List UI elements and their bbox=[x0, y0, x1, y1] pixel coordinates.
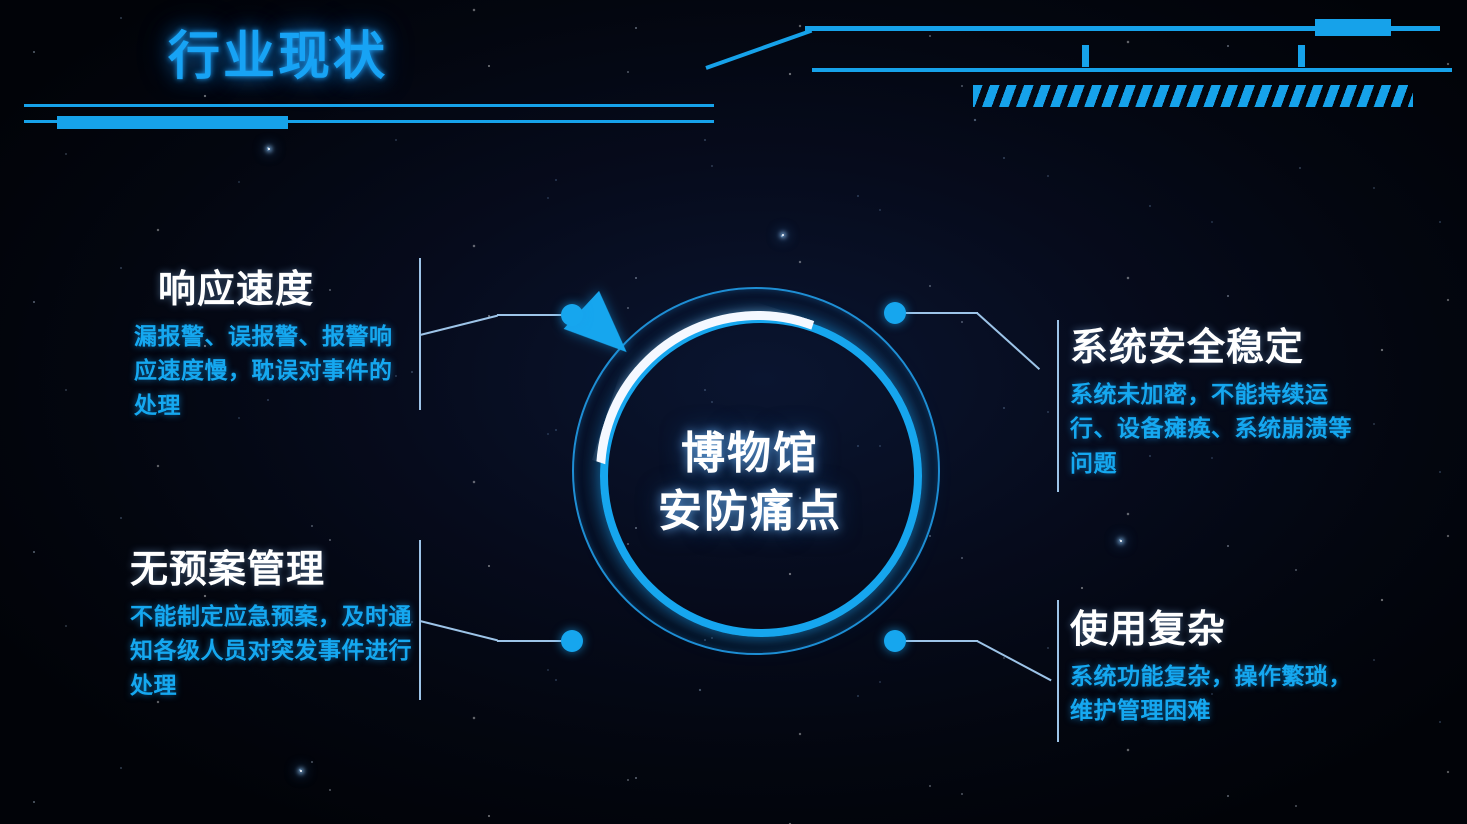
node-dot-top-left bbox=[561, 304, 583, 326]
connector-diagonal-right-bottom bbox=[977, 640, 1052, 681]
pain-point-heading: 无预案管理 bbox=[130, 548, 416, 593]
bright-star bbox=[268, 148, 270, 150]
connector-diagonal-left-top bbox=[420, 315, 498, 336]
pain-point-response-speed: 响应速度 漏报警、误报警、报警响应速度慢，耽误对事件的处理 bbox=[134, 268, 410, 422]
center-label-line-1: 博物馆 bbox=[600, 425, 900, 483]
pain-point-description: 不能制定应急预案，及时通知各级人员对突发事件进行处理 bbox=[130, 599, 416, 703]
header-hatch-stripes bbox=[973, 85, 1413, 107]
pain-point-no-plan-management: 无预案管理 不能制定应急预案，及时通知各级人员对突发事件进行处理 bbox=[130, 548, 416, 702]
pain-point-system-security: 系统安全稳定 系统未加密，不能持续运行、设备瘫痪、系统崩溃等问题 bbox=[1070, 326, 1370, 480]
header-tick-mark-1 bbox=[1082, 45, 1089, 67]
center-label: 博物馆 安防痛点 bbox=[600, 425, 900, 541]
slide-canvas: 行业现状 博物馆 安防痛点 响应速度 漏报警、误报警、报警响应速度慢，耽误对事件… bbox=[0, 0, 1467, 824]
header-diagonal-connector bbox=[705, 29, 812, 70]
pain-point-heading: 系统安全稳定 bbox=[1070, 326, 1370, 371]
header-accent-block-right bbox=[1315, 19, 1391, 36]
node-dot-bottom-left bbox=[561, 630, 583, 652]
bright-star bbox=[300, 770, 302, 772]
bright-star bbox=[782, 234, 784, 236]
connector-diagonal-right-top bbox=[976, 312, 1040, 370]
node-dot-bottom-right bbox=[884, 630, 906, 652]
pain-point-description: 系统功能复杂，操作繁琐，维护管理困难 bbox=[1070, 659, 1370, 728]
pain-point-description: 系统未加密，不能持续运行、设备瘫痪、系统崩溃等问题 bbox=[1070, 377, 1370, 481]
header-rule-right-lower bbox=[812, 68, 1452, 72]
connector-diagonal-left-bottom bbox=[420, 620, 498, 641]
header-rule-left-upper bbox=[24, 104, 714, 107]
pain-point-complex-usage: 使用复杂 系统功能复杂，操作繁琐，维护管理困难 bbox=[1070, 608, 1370, 728]
pain-point-description: 漏报警、误报警、报警响应速度慢，耽误对事件的处理 bbox=[134, 319, 410, 423]
header-accent-bar-left bbox=[57, 116, 288, 129]
header-tick-mark-2 bbox=[1298, 45, 1305, 67]
page-title: 行业现状 bbox=[168, 14, 388, 89]
center-label-line-2: 安防痛点 bbox=[600, 483, 900, 541]
pain-point-heading: 使用复杂 bbox=[1070, 608, 1370, 653]
bright-star bbox=[1120, 540, 1122, 542]
pain-point-heading: 响应速度 bbox=[134, 268, 410, 313]
connector-vertical-right-top bbox=[1057, 320, 1059, 492]
node-dot-top-right bbox=[884, 302, 906, 324]
connector-vertical-right-bottom bbox=[1057, 600, 1059, 742]
